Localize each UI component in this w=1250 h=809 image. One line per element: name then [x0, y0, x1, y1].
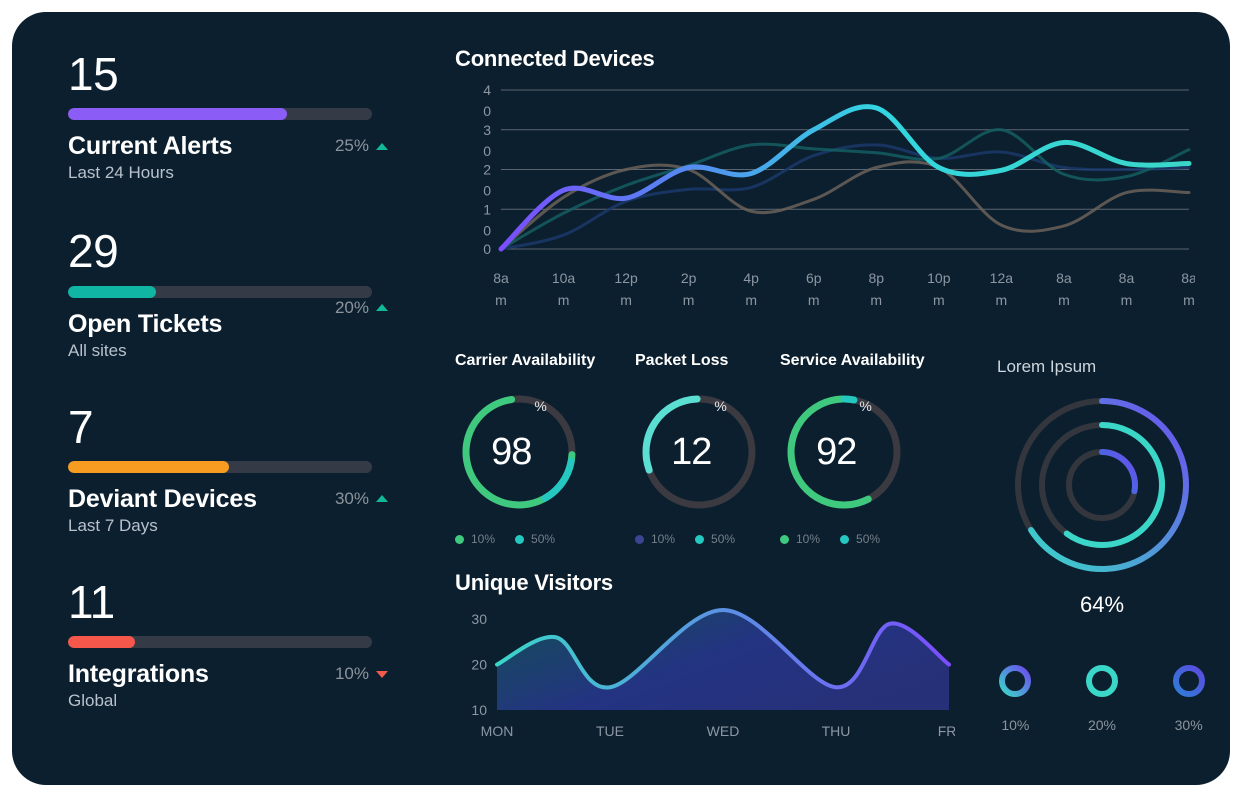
kpi-delta-value: 20% [335, 298, 369, 318]
gauge-carrier-availability[interactable]: Carrier Availability 98 % 10% 50% [455, 352, 595, 546]
legend-dot-icon [515, 535, 524, 544]
kpi-progress-track [68, 286, 372, 298]
kpi-subtitle: All sites [68, 341, 388, 361]
gauge-legend: 10% 50% [455, 532, 595, 546]
svg-text:m: m [558, 292, 570, 308]
legend-item: 50% [515, 532, 555, 546]
trend-up-icon [376, 304, 388, 311]
legend-label: 50% [711, 532, 735, 546]
gauge-ring: 98 % [455, 388, 583, 516]
legend-item: 50% [840, 532, 880, 546]
svg-text:4p: 4p [743, 270, 759, 286]
kpi-delta: 25% [335, 136, 388, 156]
legend-dot-icon [455, 535, 464, 544]
svg-text:0: 0 [483, 183, 491, 199]
gauge-title: Packet Loss [635, 352, 763, 370]
legend-label: 10% [651, 532, 675, 546]
kpi-progress-fill [68, 461, 229, 473]
gauge-title: Service Availability [780, 352, 925, 370]
svg-text:m: m [870, 292, 882, 308]
gauge-center-label: 12 % [635, 388, 763, 516]
svg-text:TUE: TUE [596, 723, 624, 739]
connected-devices-chart: 0102030408am10am12pm2pm4pm6pm8pm10pm12am… [455, 82, 1195, 317]
legend-item: 10% [635, 532, 675, 546]
gauge-legend: 10% 50% [780, 532, 925, 546]
svg-text:10p: 10p [927, 270, 951, 286]
kpi-subtitle: Last 24 Hours [68, 163, 388, 183]
kpi-progress-track [68, 108, 372, 120]
svg-text:3: 3 [483, 122, 491, 138]
unique-visitors-section: Unique Visitors 102030MONTUEWEDTHUFRI [455, 570, 955, 744]
kpi-card-current-alerts[interactable]: 15 Current Alerts Last 24 Hours 25% [68, 50, 388, 183]
mini-ring-item[interactable]: 30% [1170, 662, 1208, 733]
svg-text:m: m [495, 292, 507, 308]
kpi-card-integrations[interactable]: 11 Integrations Global 10% [68, 578, 388, 711]
kpi-progress-fill [68, 636, 135, 648]
mini-ring-item[interactable]: 10% [996, 662, 1034, 733]
svg-text:0: 0 [483, 222, 491, 238]
gauge-unit: % [714, 398, 726, 414]
svg-text:m: m [1058, 292, 1070, 308]
gauge-unit: % [859, 398, 871, 414]
svg-text:20: 20 [471, 657, 487, 673]
svg-text:30: 30 [471, 611, 487, 627]
svg-text:0: 0 [483, 143, 491, 159]
svg-text:8p: 8p [868, 270, 884, 286]
svg-text:12a: 12a [990, 270, 1014, 286]
unique-visitors-title: Unique Visitors [455, 570, 955, 596]
mini-ring-label: 10% [996, 717, 1034, 733]
mini-ring-label: 30% [1170, 717, 1208, 733]
svg-text:m: m [620, 292, 632, 308]
mini-ring-item[interactable]: 20% [1083, 662, 1121, 733]
trend-down-icon [376, 671, 388, 678]
svg-text:8a: 8a [1119, 270, 1135, 286]
svg-text:2: 2 [483, 162, 491, 178]
svg-text:10a: 10a [552, 270, 576, 286]
unique-visitors-chart: 102030MONTUEWEDTHUFRI [455, 604, 955, 744]
svg-text:m: m [683, 292, 695, 308]
kpi-subtitle: Last 7 Days [68, 516, 388, 536]
mini-ring-label: 20% [1083, 717, 1121, 733]
legend-item: 10% [455, 532, 495, 546]
trend-up-icon [376, 143, 388, 150]
kpi-progress-track [68, 636, 372, 648]
radial-widget[interactable]: Lorem Ipsum 64% [967, 357, 1230, 618]
kpi-value: 29 [68, 227, 388, 275]
svg-text:4: 4 [483, 82, 491, 98]
svg-text:WED: WED [707, 723, 740, 739]
kpi-progress-fill [68, 286, 156, 298]
svg-text:m: m [808, 292, 820, 308]
radial-value: 64% [967, 592, 1230, 618]
gauge-title: Carrier Availability [455, 352, 595, 370]
svg-text:2p: 2p [681, 270, 697, 286]
kpi-card-open-tickets[interactable]: 29 Open Tickets All sites 20% [68, 227, 388, 360]
kpi-subtitle: Global [68, 691, 388, 711]
kpi-value: 15 [68, 50, 388, 98]
svg-text:8a: 8a [1056, 270, 1072, 286]
svg-text:m: m [996, 292, 1008, 308]
kpi-card-deviant-devices[interactable]: 7 Deviant Devices Last 7 Days 30% [68, 403, 388, 536]
svg-text:8a: 8a [493, 270, 509, 286]
legend-item: 10% [780, 532, 820, 546]
gauge-center-label: 92 % [780, 388, 908, 516]
kpi-progress-track [68, 461, 372, 473]
svg-text:m: m [933, 292, 945, 308]
connected-devices-section: Connected Devices 0102030408am10am12pm2p… [455, 46, 1215, 317]
svg-text:m: m [1121, 292, 1133, 308]
gauge-value: 92 [816, 431, 856, 474]
legend-label: 50% [856, 532, 880, 546]
svg-text:6p: 6p [806, 270, 822, 286]
svg-text:m: m [1183, 292, 1195, 308]
gauge-value: 12 [671, 431, 711, 474]
gauge-value: 98 [491, 431, 531, 474]
legend-label: 10% [471, 532, 495, 546]
gauge-center-label: 98 % [455, 388, 583, 516]
mini-rings-row: 10% 20% 30% [972, 662, 1230, 733]
dashboard-panel: 15 Current Alerts Last 24 Hours 25% 29 O… [12, 12, 1230, 785]
legend-dot-icon [840, 535, 849, 544]
kpi-value: 11 [68, 578, 388, 626]
legend-dot-icon [635, 535, 644, 544]
kpi-value: 7 [68, 403, 388, 451]
gauge-ring: 12 % [635, 388, 763, 516]
svg-text:THU: THU [822, 723, 851, 739]
svg-text:0: 0 [483, 241, 491, 257]
kpi-sidebar: 15 Current Alerts Last 24 Hours 25% 29 O… [68, 50, 388, 711]
page-title: Connected Devices [455, 46, 1215, 72]
kpi-delta-value: 30% [335, 489, 369, 509]
legend-label: 50% [531, 532, 555, 546]
svg-text:MON: MON [481, 723, 514, 739]
radial-title: Lorem Ipsum [997, 357, 1230, 377]
kpi-delta: 30% [335, 489, 388, 509]
legend-dot-icon [695, 535, 704, 544]
svg-text:0: 0 [483, 103, 491, 119]
legend-label: 10% [796, 532, 820, 546]
kpi-delta-value: 25% [335, 136, 369, 156]
trend-up-icon [376, 495, 388, 502]
kpi-delta-value: 10% [335, 664, 369, 684]
svg-text:m: m [745, 292, 757, 308]
gauge-unit: % [534, 398, 546, 414]
kpi-progress-fill [68, 108, 287, 120]
legend-dot-icon [780, 535, 789, 544]
kpi-delta: 10% [335, 664, 388, 684]
gauge-service-availability[interactable]: Service Availability 92 % 10% 50% [780, 352, 925, 546]
kpi-delta: 20% [335, 298, 388, 318]
svg-text:FRI: FRI [938, 723, 955, 739]
svg-text:8a: 8a [1181, 270, 1195, 286]
gauge-ring: 92 % [780, 388, 908, 516]
svg-text:10: 10 [471, 702, 487, 718]
legend-item: 50% [695, 532, 735, 546]
gauge-legend: 10% 50% [635, 532, 763, 546]
gauge-packet-loss[interactable]: Packet Loss 12 % 10% 50% [635, 352, 763, 546]
radial-rings [1002, 385, 1202, 585]
svg-text:1: 1 [483, 201, 491, 217]
svg-text:12p: 12p [614, 270, 638, 286]
